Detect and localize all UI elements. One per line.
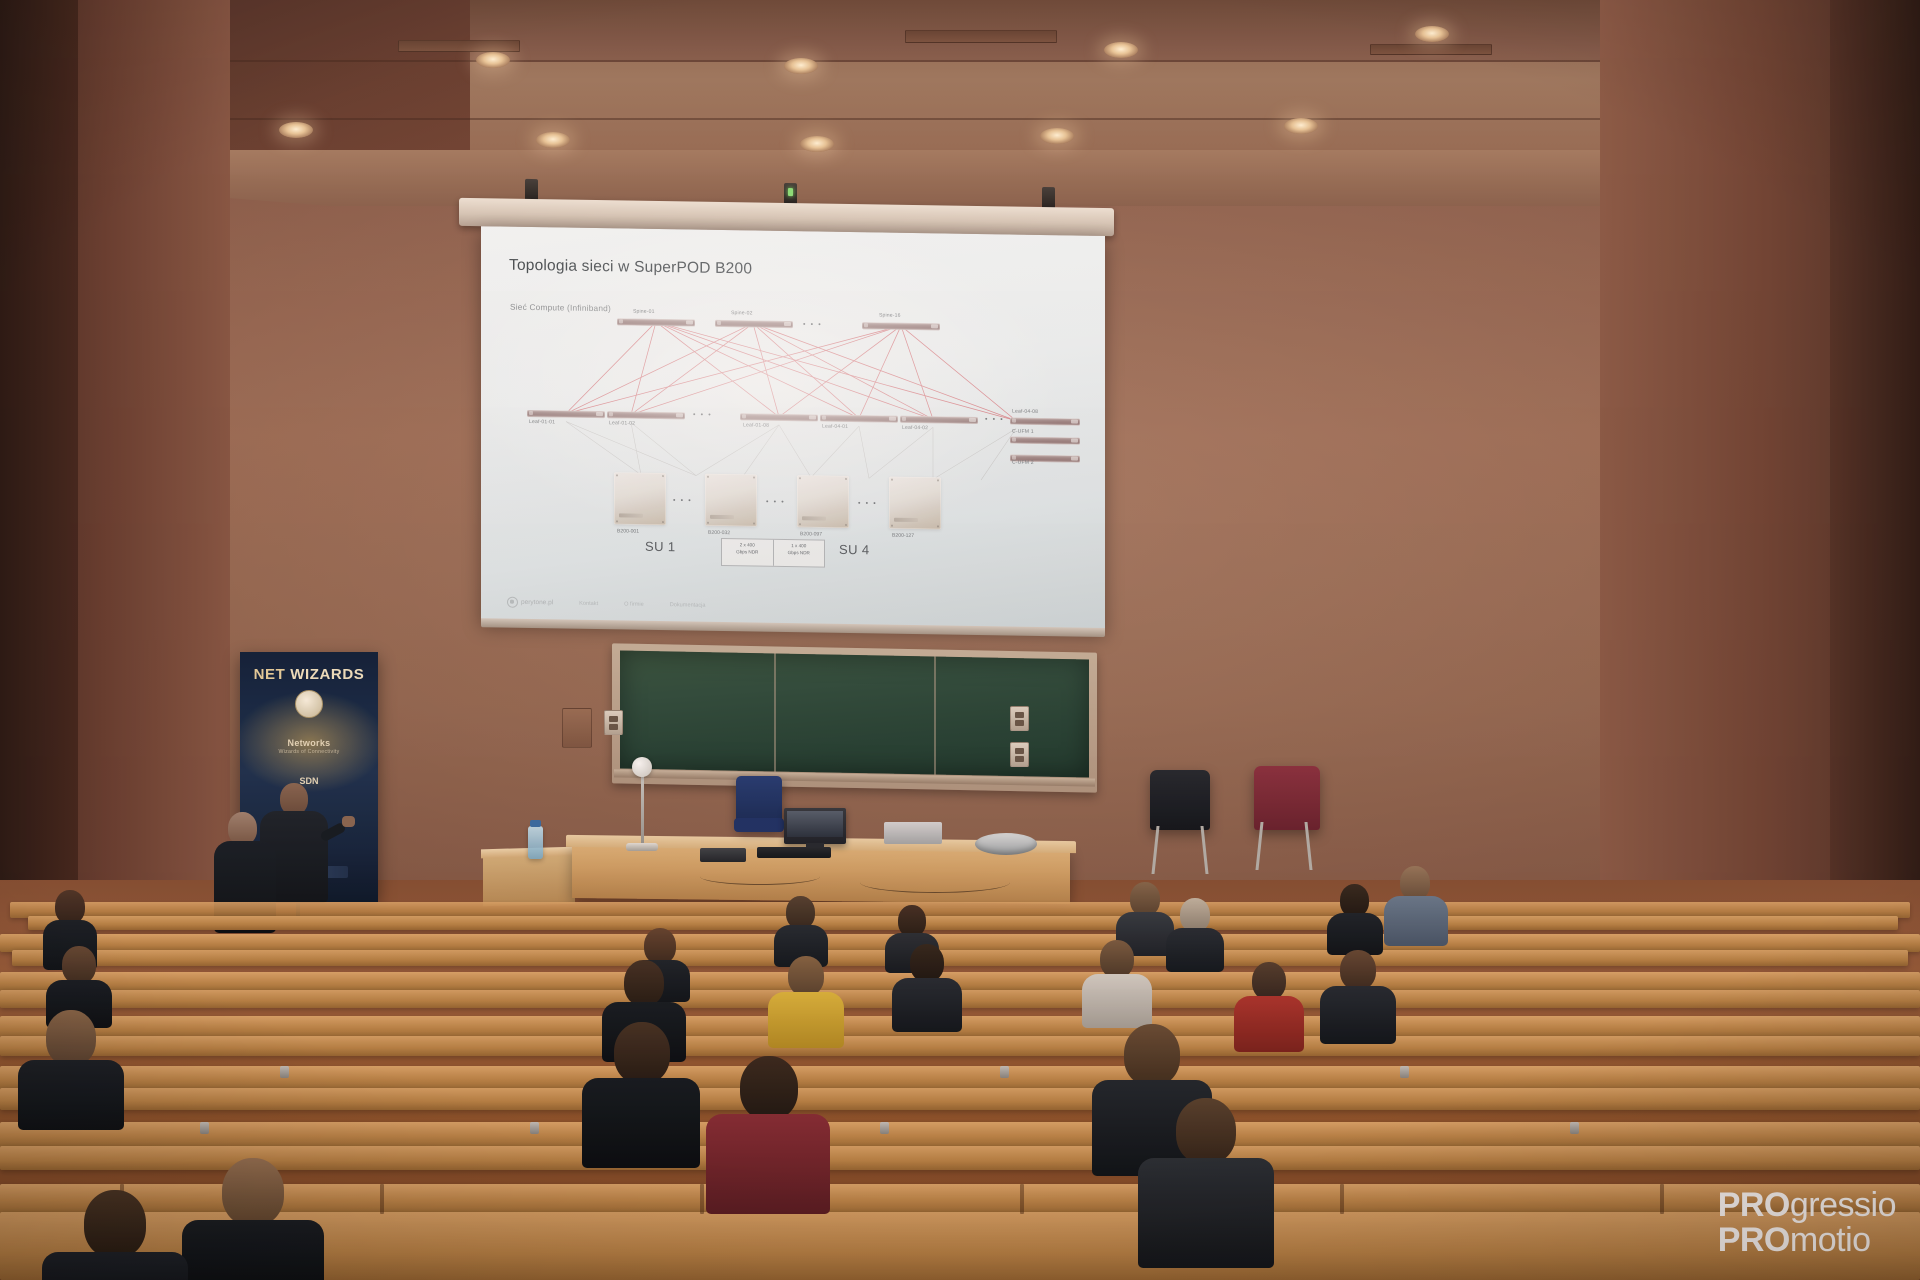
slide-title: Topologia sieci w SuperPOD B200 <box>509 257 1079 284</box>
ceiling-vent <box>398 40 520 52</box>
cable <box>860 872 1010 893</box>
leaf-node-bar <box>607 411 685 419</box>
wall-panel <box>562 708 592 748</box>
power-outlet <box>1010 706 1029 731</box>
screen-surface: Topologia sieci w SuperPOD B200 Sieć Com… <box>481 226 1105 631</box>
footer-link: O firmie <box>624 601 644 607</box>
ceiling-downlight <box>1104 42 1138 58</box>
ceiling-downlight <box>1415 26 1449 42</box>
gpu-chassis <box>797 475 849 528</box>
chair-legs <box>1258 822 1310 870</box>
torso <box>1166 928 1224 972</box>
head <box>1180 898 1210 932</box>
ceiling-vent <box>905 30 1057 43</box>
seat-bracket <box>280 1066 289 1078</box>
gpu-node-label: B200-001 <box>617 528 639 534</box>
leaf-node-bar <box>527 410 605 418</box>
spine-node-bar <box>715 320 793 328</box>
desk-row <box>28 916 1898 930</box>
banner-title: NET WIZARDS <box>240 666 378 683</box>
head <box>1252 962 1286 1000</box>
leaf-node-bar <box>900 416 978 424</box>
torso <box>42 1252 188 1280</box>
gpu-ellipsis: • • • <box>858 500 877 507</box>
head <box>1400 866 1430 900</box>
head <box>624 960 664 1006</box>
ceiling-downlight <box>784 58 818 74</box>
leaf-node-bar <box>740 413 818 421</box>
leaf-node-label: Leaf-01-01 <box>529 419 555 425</box>
logo-line2-bold: PRO <box>1718 1221 1790 1259</box>
banner-sdn-label: SDN <box>240 776 378 786</box>
cable <box>700 868 820 885</box>
leaf-ellipsis: • • • <box>985 416 1004 423</box>
power-outlet <box>1010 742 1029 767</box>
head <box>788 956 824 996</box>
desk-row <box>12 950 1908 966</box>
projection-screen: Topologia sieci w SuperPOD B200 Sieć Com… <box>459 198 1114 646</box>
gpu-node-label: B200-127 <box>892 533 914 539</box>
spine-node-bar <box>617 318 695 326</box>
head <box>1130 882 1160 916</box>
torso <box>1320 986 1396 1044</box>
banner-seal-icon <box>295 690 323 718</box>
logo-line-1: PROgressio <box>1718 1188 1896 1223</box>
gpu-chassis <box>705 474 757 527</box>
screen-mount-bracket <box>1042 187 1055 209</box>
brand-mark-icon <box>507 597 518 608</box>
banner-networks-label: Networks Wizards of Connectivity <box>240 738 378 755</box>
head <box>62 946 96 984</box>
seat-bracket <box>200 1122 209 1134</box>
ceiling-downlight <box>536 132 570 148</box>
leaf-node-bar <box>1010 418 1080 426</box>
banner-networks-text: Networks <box>288 738 331 748</box>
banner-title-part2: WIZARDS <box>290 666 364 683</box>
su-group-label: SU 4 <box>839 542 870 557</box>
ufm-node-bar <box>1010 437 1080 445</box>
seat-bracket <box>1400 1066 1409 1078</box>
spine-node-label: Spine-02 <box>731 310 753 316</box>
banner-networks-subtext: Wizards of Connectivity <box>240 749 378 755</box>
seat-bracket <box>1000 1066 1009 1078</box>
footer-brand-label: perytone.pl <box>521 599 553 607</box>
chalkboard-divider <box>934 657 936 775</box>
torso <box>1234 996 1304 1052</box>
bench-row <box>0 1122 1920 1148</box>
footer-link: Kontakt <box>579 600 598 606</box>
legend-line-1: 1 x 400 <box>791 543 806 548</box>
seat-bracket <box>530 1122 539 1134</box>
screen-mount-bracket <box>784 183 797 205</box>
ufm-node-label: C-UFM 1 <box>1012 429 1034 435</box>
head <box>222 1158 284 1226</box>
gpu-ellipsis: • • • <box>766 499 785 506</box>
head <box>740 1056 798 1120</box>
seat-divider <box>1020 1184 1024 1214</box>
leaf-ellipsis: • • • <box>693 412 712 419</box>
gpu-node-label: B200-097 <box>800 531 822 537</box>
spine-node-label: Spine-16 <box>879 312 901 318</box>
screen-mount-bracket <box>525 179 538 201</box>
keyboard <box>757 847 831 858</box>
ceiling-downlight <box>279 122 313 138</box>
leaf-node-bar <box>820 415 898 423</box>
torso <box>1384 896 1448 946</box>
power-outlet <box>604 710 623 735</box>
presentation-slide: Topologia sieci w SuperPOD B200 Sieć Com… <box>481 226 1105 631</box>
microphone-icon <box>632 757 652 777</box>
desk-row <box>0 1036 1920 1056</box>
desk-monitor <box>784 808 846 844</box>
gpu-node-label: B200-032 <box>708 530 730 536</box>
right-wall-edge <box>1830 0 1920 900</box>
seat-bracket <box>880 1122 889 1134</box>
network-topology-diagram: Spine-01 Spine-02 • • • Spine-16 Leaf-01… <box>481 304 1105 614</box>
ceiling-downlight <box>476 52 510 68</box>
ceiling-downlight <box>1284 118 1318 134</box>
ceiling-downlight <box>800 136 834 152</box>
torso <box>706 1114 830 1214</box>
head <box>614 1022 670 1084</box>
torso <box>892 978 962 1032</box>
gpu-chassis <box>889 477 941 530</box>
status-led <box>788 188 793 196</box>
chalkboard-divider <box>774 653 776 771</box>
leaf-node-label: Leaf-04-08 <box>1012 409 1038 415</box>
bench-row <box>0 1184 1920 1214</box>
leaf-node-label: Leaf-01-08 <box>743 422 769 428</box>
torso <box>18 1060 124 1130</box>
sink-basin <box>975 833 1037 855</box>
desk-row <box>0 1088 1920 1110</box>
leaf-node-label: Leaf-01-02 <box>609 420 635 426</box>
head <box>1124 1024 1180 1086</box>
legend-cell: 2 x 400 Gbps NDR <box>722 539 773 566</box>
water-bottle <box>528 826 543 859</box>
leaf-node-label: Leaf-04-02 <box>902 425 928 431</box>
legend-cell: 1 x 400 Gbps NDR <box>773 540 825 567</box>
su-group-label: SU 1 <box>645 539 676 554</box>
ufm-node-label: C-UFM 2 <box>1012 460 1034 466</box>
lecture-hall-photo: Topologia sieci w SuperPOD B200 Sieć Com… <box>0 0 1920 1280</box>
presenter-chair <box>736 776 782 830</box>
left-wall-edge <box>0 0 78 920</box>
legend-line-1: 2 x 400 <box>740 542 755 547</box>
chair-legs <box>1154 826 1206 874</box>
hand <box>342 816 355 827</box>
head <box>1176 1098 1236 1164</box>
logo-line2-rest: motio <box>1790 1221 1871 1259</box>
equipment-box <box>884 822 942 844</box>
head <box>84 1190 146 1258</box>
side-chair <box>1254 766 1320 830</box>
spine-node-bar <box>862 322 940 330</box>
spine-node-label: Spine-01 <box>633 309 655 315</box>
legend-line-2: Gbps NDR <box>788 550 810 555</box>
logo-line1-rest: gressio <box>1790 1186 1896 1224</box>
seat-divider <box>1660 1184 1664 1214</box>
legend-line-2: Gbps NDR <box>736 549 758 554</box>
head <box>1100 940 1134 978</box>
head <box>644 928 676 964</box>
desk-row <box>0 1146 1920 1170</box>
leaf-node-label: Leaf-04-01 <box>822 424 848 430</box>
head <box>55 890 85 924</box>
seat-bracket <box>1570 1122 1579 1134</box>
torso <box>1138 1158 1274 1268</box>
footer-link: Dokumentacja <box>670 602 706 609</box>
logo-line1-bold: PRO <box>1718 1186 1790 1224</box>
torso <box>182 1220 324 1280</box>
microphone-base <box>626 843 658 851</box>
head <box>46 1010 96 1066</box>
gpu-ellipsis: • • • <box>673 497 692 504</box>
equipment-box <box>700 848 746 862</box>
banner-title-part1: NET <box>254 666 286 683</box>
seat-divider <box>700 1184 704 1214</box>
torso <box>1082 974 1152 1028</box>
spine-ellipsis: • • • <box>803 321 822 328</box>
torso <box>1327 913 1383 955</box>
head <box>1340 950 1376 990</box>
ceiling-vent <box>1370 44 1492 55</box>
gpu-chassis <box>614 472 666 525</box>
head <box>910 944 944 982</box>
logo-line-2: PROmotio <box>1718 1223 1896 1258</box>
torso <box>582 1078 700 1168</box>
footer-brand: perytone.pl <box>507 597 553 609</box>
seat-divider <box>380 1184 384 1214</box>
progressio-promotio-logo: PROgressio PROmotio <box>1718 1188 1896 1258</box>
bottle-cap <box>530 820 541 827</box>
link-speed-legend: 2 x 400 Gbps NDR 1 x 400 Gbps NDR <box>721 538 825 568</box>
seat-divider <box>1340 1184 1344 1214</box>
torso <box>768 992 844 1048</box>
side-chair <box>1150 770 1210 830</box>
ceiling-downlight <box>1040 128 1074 144</box>
desk-side-extension <box>483 852 575 907</box>
